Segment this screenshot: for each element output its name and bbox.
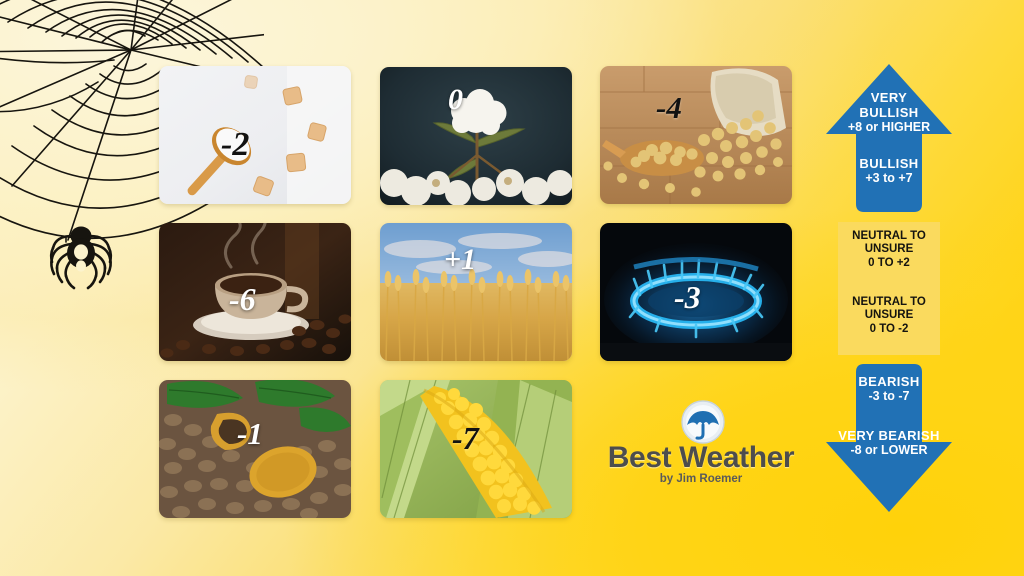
very-bullish-label-line2: BULLISH <box>826 105 952 120</box>
wheat-field-photo <box>380 223 572 361</box>
neutral-up-text: NEUTRAL TO UNSURE 0 TO +2 <box>826 230 952 270</box>
bullish-arrow-up[interactable] <box>826 64 952 212</box>
commodity-value-sugar: -2 <box>221 128 249 162</box>
commodity-card-corn[interactable]: -7 <box>380 380 572 518</box>
very-bearish-label: VERY BEARISH <box>826 428 952 443</box>
commodity-value-cocoa: -1 <box>237 418 263 449</box>
bearish-label: BEARISH <box>826 374 952 389</box>
logo-tagline: by Jim Roemer <box>601 473 801 485</box>
bullish-label: BULLISH <box>826 156 952 171</box>
very-bullish-label-line1: VERY <box>826 90 952 105</box>
neutral-down-text: NEUTRAL TO UNSURE 0 TO -2 <box>826 296 952 336</box>
commodity-card-cotton[interactable]: 0 <box>380 67 572 205</box>
commodity-value-corn: -7 <box>452 422 479 454</box>
bullish-band: BULLISH +3 to +7 <box>826 156 952 185</box>
bearish-range: -3 to -7 <box>826 389 952 403</box>
bullish-range: +3 to +7 <box>826 171 952 185</box>
commodity-value-cotton: 0 <box>448 85 463 115</box>
very-bullish-range: +8 or HIGHER <box>826 120 952 134</box>
neutral-down-line1: NEUTRAL TO <box>826 296 952 309</box>
commodity-card-wheat[interactable]: +1 <box>380 223 572 361</box>
cotton-boll-photo <box>380 67 572 205</box>
very-bearish-range: -8 or LOWER <box>826 443 952 457</box>
umbrella-icon <box>681 400 725 444</box>
commodity-card-cocoa[interactable]: -1 <box>159 380 351 518</box>
neutral-down-line2: UNSURE <box>826 309 952 322</box>
bearish-band: BEARISH -3 to -7 <box>826 374 952 403</box>
neutral-down-line3: 0 TO -2 <box>826 323 952 336</box>
commodity-card-sugar[interactable]: -2 <box>159 66 351 204</box>
arrow-up-icon <box>826 64 952 212</box>
spider-icon <box>48 222 114 290</box>
neutral-up-line3: 0 TO +2 <box>826 257 952 270</box>
commodity-value-wheat: +1 <box>444 245 476 275</box>
neutral-up-line2: UNSURE <box>826 243 952 256</box>
soybeans-sack-photo <box>600 66 792 204</box>
commodity-card-natural-gas[interactable]: -3 <box>600 223 792 361</box>
commodity-value-natural-gas: -3 <box>674 281 701 313</box>
sugar-spoon-photo <box>159 66 351 204</box>
neutral-up-line1: NEUTRAL TO <box>826 230 952 243</box>
commodity-value-soybeans: -4 <box>656 92 682 123</box>
commodity-card-soybeans[interactable]: -4 <box>600 66 792 204</box>
commodity-value-coffee: -6 <box>229 283 256 315</box>
best-weather-logo[interactable]: Best Weather by Jim Roemer <box>601 400 801 488</box>
commodity-card-coffee[interactable]: -6 <box>159 223 351 361</box>
logo-name: Best Weather <box>601 441 801 475</box>
very-bearish-band: VERY BEARISH -8 or LOWER <box>826 428 952 457</box>
sentiment-scale: VERY BULLISH +8 or HIGHER BULLISH +3 to … <box>826 64 952 512</box>
very-bullish-band: VERY BULLISH +8 or HIGHER <box>826 90 952 134</box>
